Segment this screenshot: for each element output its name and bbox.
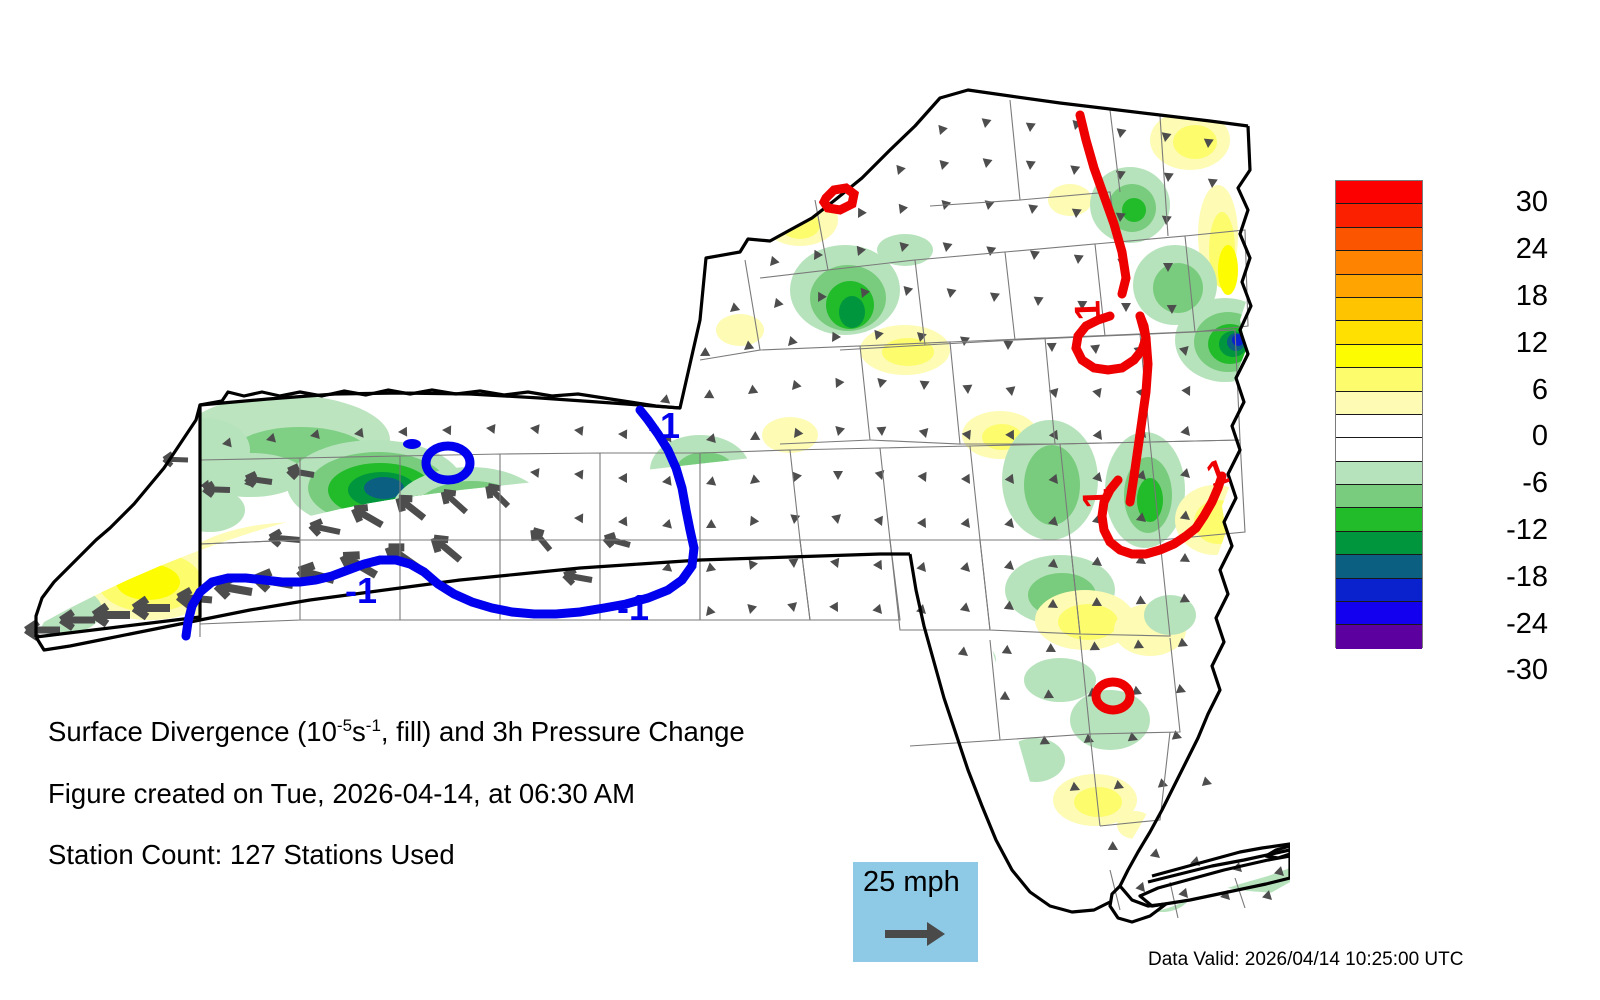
colorbar-band-6 <box>1336 321 1422 344</box>
colorbar-band-1 <box>1336 204 1422 227</box>
wind-speed-legend: 25 mph <box>853 862 978 962</box>
colorbar: 3024181260-6-12-18-24-30 <box>1300 160 1590 660</box>
colorbar-band-12 <box>1336 462 1422 485</box>
colorbar-tick--12: -12 <box>1428 516 1548 545</box>
colorbar-band-0 <box>1336 181 1422 204</box>
colorbar-band-14 <box>1336 508 1422 531</box>
colorbar-band-8 <box>1336 368 1422 391</box>
title-post: , fill) and 3h Pressure Change <box>381 716 745 747</box>
colorbar-band-9 <box>1336 392 1422 415</box>
colorbar-band-19 <box>1336 625 1422 648</box>
contour-label-neg-3: -1 <box>617 587 649 628</box>
colorbar-band-7 <box>1336 345 1422 368</box>
colorbar-band-15 <box>1336 532 1422 555</box>
colorbar-band-13 <box>1336 485 1422 508</box>
colorbar-tick-0: 0 <box>1428 422 1548 451</box>
colorbar-tick--30: -30 <box>1428 656 1548 685</box>
colorbar-band-18 <box>1336 602 1422 625</box>
contour-label-pos-2: 1 <box>1074 488 1116 509</box>
contour-label-neg-1: -1 <box>648 405 680 446</box>
colorbar-band-10 <box>1336 415 1422 438</box>
caption-block: Surface Divergence (10-5s-1, fill) and 3… <box>48 718 948 903</box>
colorbar-tick--6: -6 <box>1428 469 1548 498</box>
title-exponent-1: -5 <box>337 716 352 735</box>
wind-legend-arrow-icon <box>885 920 947 948</box>
figure-created-line: Figure created on Tue, 2026-04-14, at 06… <box>48 780 948 808</box>
figure-title: Surface Divergence (10-5s-1, fill) and 3… <box>48 718 948 746</box>
colorbar-bands <box>1335 180 1423 648</box>
colorbar-band-5 <box>1336 298 1422 321</box>
colorbar-band-2 <box>1336 228 1422 251</box>
contour-label-pos-1: 1 <box>1066 300 1108 321</box>
colorbar-tick-30: 30 <box>1428 188 1548 217</box>
wind-legend-label: 25 mph <box>863 868 960 897</box>
contour-label-neg-2: -1 <box>345 570 377 611</box>
colorbar-tick-24: 24 <box>1428 235 1548 264</box>
colorbar-tick--24: -24 <box>1428 610 1548 639</box>
colorbar-band-17 <box>1336 579 1422 602</box>
colorbar-band-16 <box>1336 555 1422 578</box>
colorbar-band-3 <box>1336 251 1422 274</box>
title-pre: Surface Divergence (10 <box>48 716 337 747</box>
station-count-line: Station Count: 127 Stations Used <box>48 841 948 869</box>
colorbar-tick-labels: 3024181260-6-12-18-24-30 <box>1428 160 1578 660</box>
title-mid: s <box>352 716 366 747</box>
title-exponent-2: -1 <box>366 716 381 735</box>
colorbar-band-11 <box>1336 438 1422 461</box>
colorbar-band-4 <box>1336 275 1422 298</box>
colorbar-tick-18: 18 <box>1428 282 1548 311</box>
colorbar-tick-12: 12 <box>1428 329 1548 358</box>
colorbar-tick--18: -18 <box>1428 563 1548 592</box>
data-valid-timestamp: Data Valid: 2026/04/14 10:25:00 UTC <box>1148 950 1463 969</box>
colorbar-tick-6: 6 <box>1428 376 1548 405</box>
